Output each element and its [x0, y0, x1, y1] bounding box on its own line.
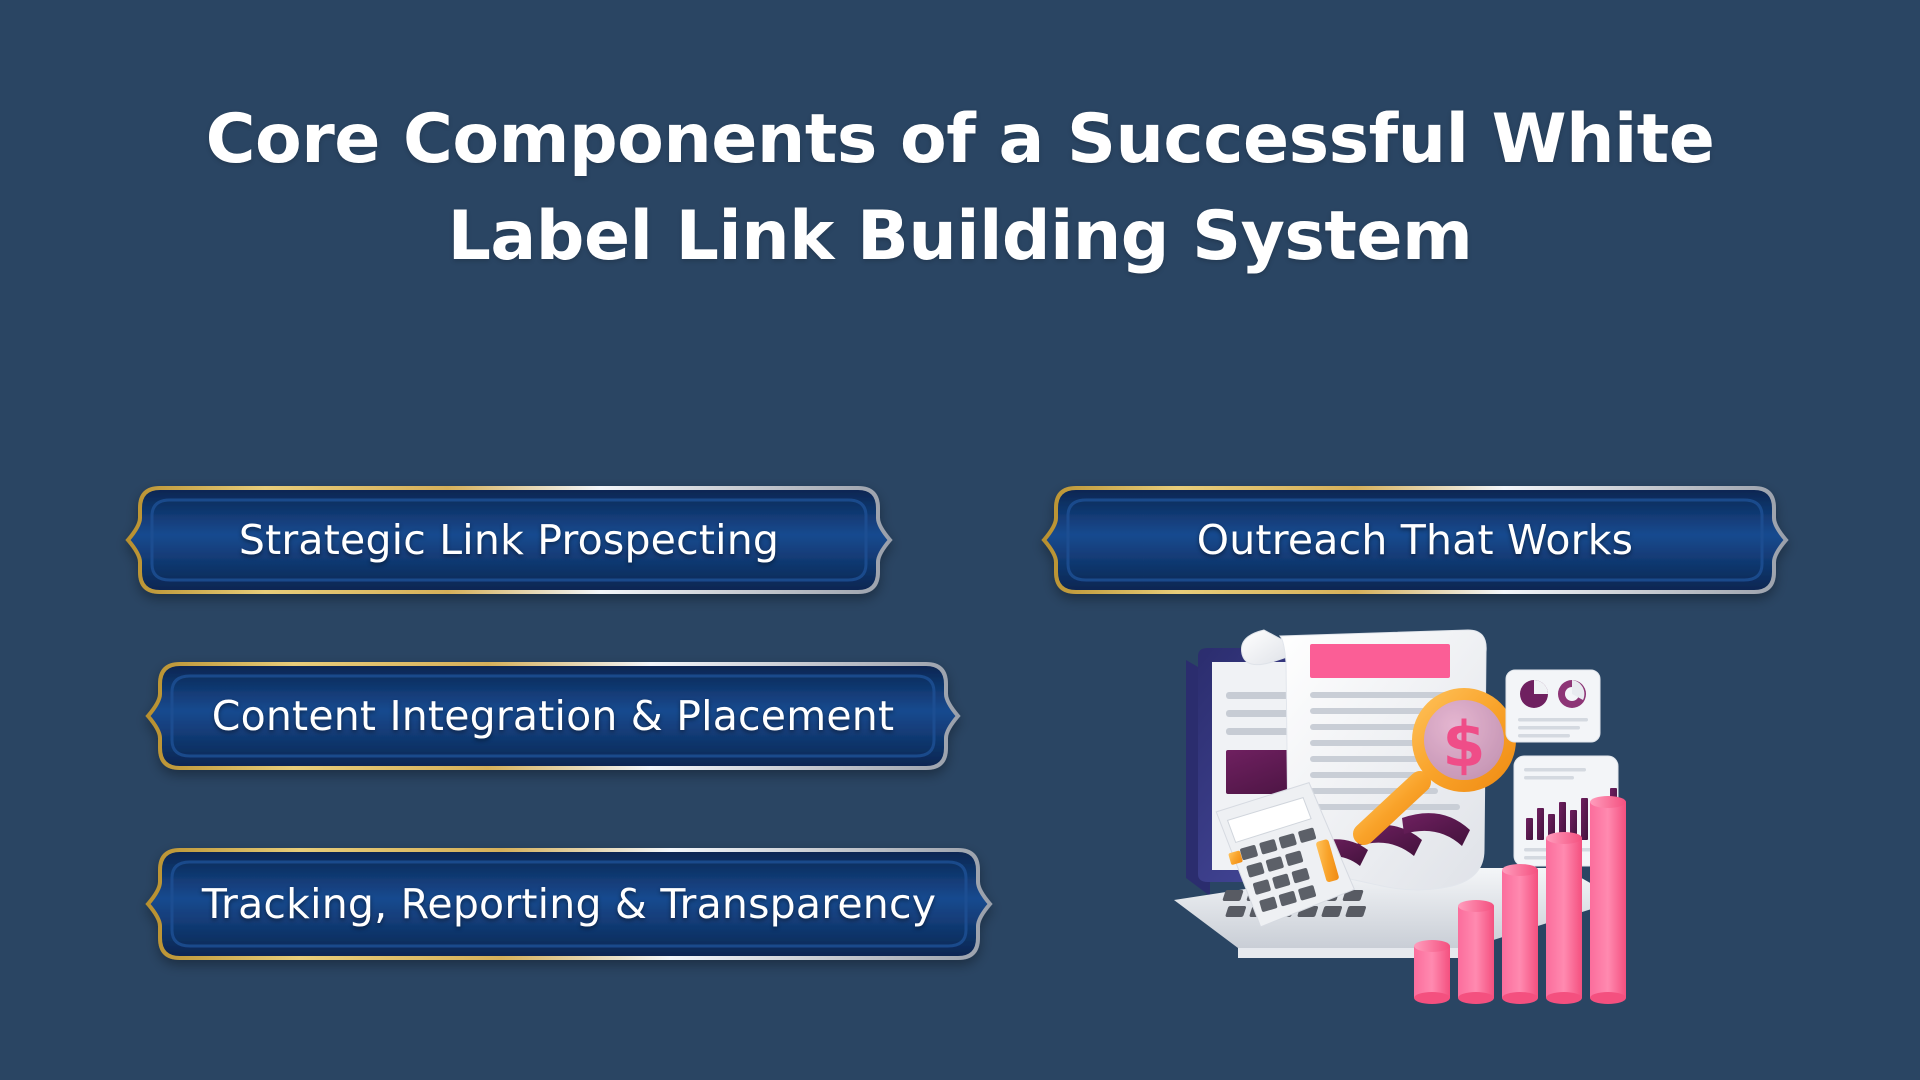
banner-tracking-reporting-transparency[interactable]: Tracking, Reporting & Transparency	[138, 844, 1000, 964]
banner-strategic-link-prospecting[interactable]: Strategic Link Prospecting	[118, 482, 900, 598]
cylinder-bar	[1546, 832, 1582, 1004]
cylinder-bar	[1590, 796, 1626, 1004]
cylinder-bar	[1502, 864, 1538, 1004]
banner-label: Outreach That Works	[1157, 516, 1673, 564]
banner-outreach-that-works[interactable]: Outreach That Works	[1034, 482, 1796, 598]
business-analytics-illustration: $	[1168, 600, 1668, 1020]
banner-label: Content Integration & Placement	[172, 692, 934, 740]
pie-chart-card	[1506, 670, 1600, 742]
donut-chart-icon	[1558, 680, 1586, 708]
banner-label: Strategic Link Prospecting	[199, 516, 819, 564]
cylinder-bar	[1414, 940, 1450, 1004]
document-header-band	[1310, 644, 1450, 678]
infographic-canvas: Core Components of a Successful White La…	[0, 0, 1920, 1080]
cylinder-bar	[1458, 900, 1494, 1004]
dollar-sign-icon: $	[1442, 708, 1485, 781]
pie-chart-icon	[1520, 680, 1548, 708]
banner-content-integration-placement[interactable]: Content Integration & Placement	[138, 658, 968, 774]
page-title: Core Components of a Successful White La…	[0, 92, 1920, 285]
banner-label: Tracking, Reporting & Transparency	[162, 880, 976, 928]
